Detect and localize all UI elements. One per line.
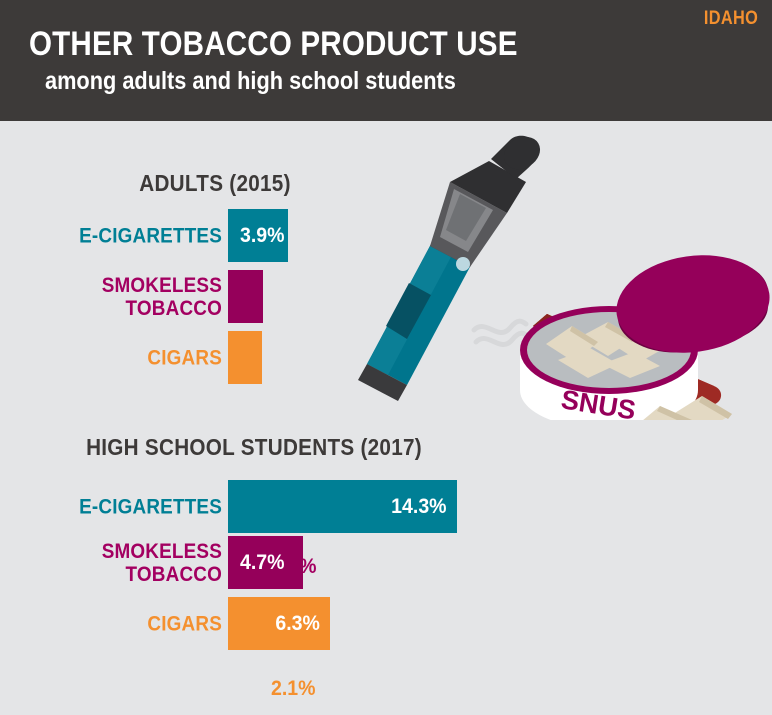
bar-value-adults-cigars: 2.1% [271, 662, 316, 715]
bar-adults-cigars [228, 331, 262, 384]
bar-label-hs-smokeless-tobacco: SMOKELESS TOBACCO [0, 540, 222, 586]
page-header: IDAHO OTHER TOBACCO PRODUCT USE among ad… [0, 0, 772, 121]
bar-label-line2: TOBACCO [126, 297, 222, 320]
bar-hs-smokeless-tobacco: 4.7% [228, 536, 303, 589]
bar-hs-e-cigarettes: 14.3% [228, 480, 457, 533]
bar-label-line1: SMOKELESS [102, 540, 222, 563]
snus-tin-label: SNUS [559, 384, 638, 420]
snus-pouches-icon [636, 396, 732, 420]
bar-value-hs-cigars: 6.3% [275, 597, 320, 650]
bar-row-hs-cigars: CIGARS 6.3% [0, 597, 772, 650]
bar-row-adults-smokeless-tobacco: SMOKELESS TOBACCO 2.2% [0, 270, 772, 323]
page-subtitle: among adults and high school students [45, 68, 456, 95]
bar-adults-smokeless-tobacco [228, 270, 263, 323]
bar-label-adults-smokeless-tobacco: SMOKELESS TOBACCO [0, 274, 222, 320]
section-heading-high-school: HIGH SCHOOL STUDENTS (2017) [25, 434, 482, 461]
infographic-page: IDAHO OTHER TOBACCO PRODUCT USE among ad… [0, 0, 772, 695]
bar-row-hs-e-cigarettes: E-CIGARETTES 14.3% [0, 480, 772, 533]
bar-label-adults-cigars: CIGARS [0, 346, 222, 369]
section-heading-adults: ADULTS (2015) [22, 170, 409, 197]
bar-label-hs-cigars: CIGARS [0, 612, 222, 635]
page-title: OTHER TOBACCO PRODUCT USE [29, 26, 518, 62]
bar-label-line2: TOBACCO [126, 563, 222, 586]
bar-label-hs-e-cigarettes: E-CIGARETTES [0, 495, 222, 518]
bar-label-adults-e-cigarettes: E-CIGARETTES [0, 224, 222, 247]
bar-label-line1: SMOKELESS [102, 274, 222, 297]
bar-value-adults-e-cigarettes: 3.9% [240, 209, 285, 262]
bar-row-adults-e-cigarettes: E-CIGARETTES 3.9% [0, 209, 772, 262]
state-label: IDAHO [704, 8, 758, 30]
bar-hs-cigars: 6.3% [228, 597, 330, 650]
bar-adults-e-cigarettes: 3.9% [228, 209, 288, 262]
bar-value-hs-smokeless-tobacco: 4.7% [240, 536, 285, 589]
bar-row-hs-smokeless-tobacco: SMOKELESS TOBACCO 4.7% [0, 536, 772, 589]
bar-value-hs-e-cigarettes: 14.3% [392, 480, 447, 533]
bar-row-adults-cigars: CIGARS 2.1% [0, 331, 772, 384]
